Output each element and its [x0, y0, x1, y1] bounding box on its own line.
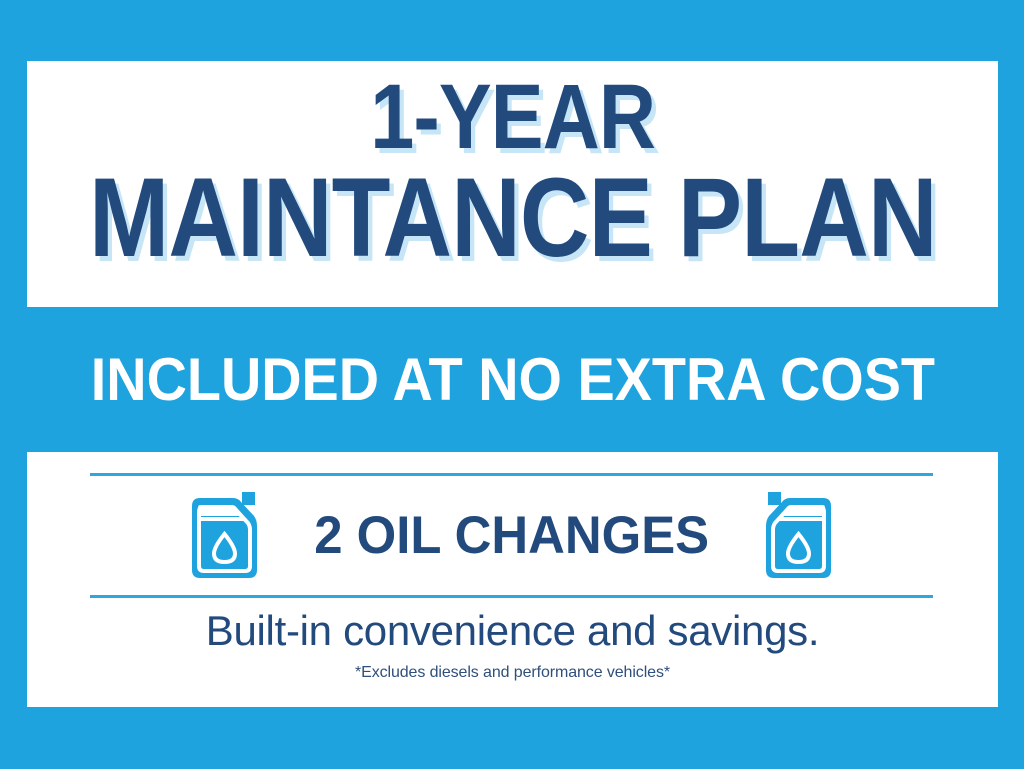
- headline-card: 1-YEAR MAINTANCE PLAN: [27, 61, 998, 307]
- headline-block: 1-YEAR MAINTANCE PLAN: [27, 61, 998, 307]
- disclaimer: *Excludes diesels and performance vehicl…: [27, 664, 998, 682]
- headline-line-primary: 1-YEAR: [370, 75, 655, 160]
- headline-line-secondary: MAINTANCE PLAN: [89, 166, 937, 269]
- details-card: 2 OIL CHANGES Built-in convenience and s…: [27, 452, 998, 707]
- subtitle-text: INCLUDED AT NO EXTRA COST: [90, 345, 934, 414]
- divider-bottom: [90, 595, 933, 598]
- oil-can-icon: [188, 490, 262, 582]
- details-inner: 2 OIL CHANGES Built-in convenience and s…: [27, 452, 998, 707]
- promo-poster: 1-YEAR MAINTANCE PLAN INCLUDED AT NO EXT…: [0, 0, 1024, 769]
- offer-label: 2 OIL CHANGES: [314, 505, 709, 566]
- tagline: Built-in convenience and savings.: [27, 607, 998, 655]
- oil-can-icon: [761, 490, 835, 582]
- subtitle-band: INCLUDED AT NO EXTRA COST: [27, 307, 998, 452]
- offer-row: 2 OIL CHANGES: [90, 476, 933, 595]
